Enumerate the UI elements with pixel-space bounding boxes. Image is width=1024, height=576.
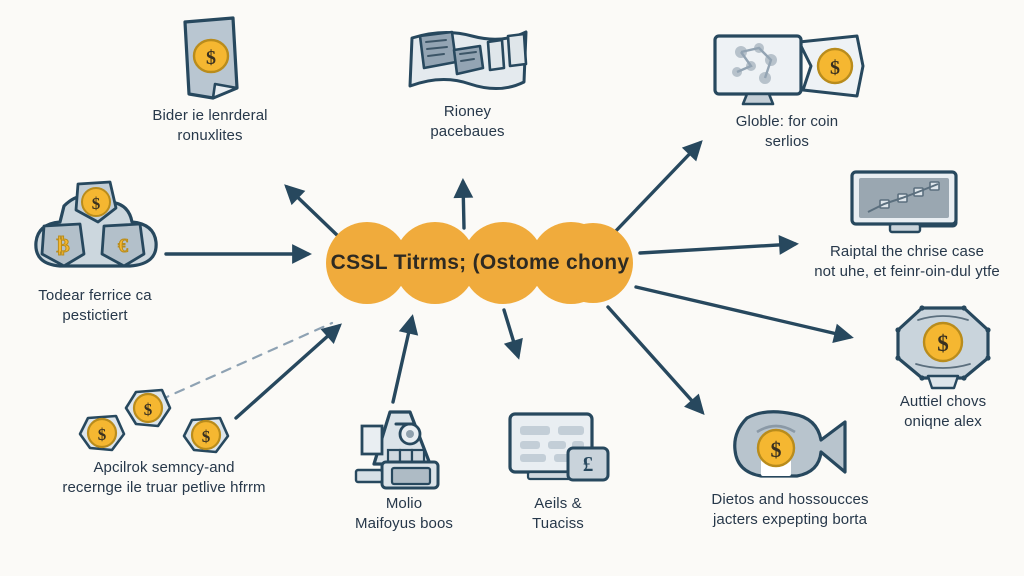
piggybank-coin-icon: $ [727,402,853,486]
arrow-hub-to-bottom-right [608,307,702,412]
central-node[interactable]: CSSL Titrms; (Ostome chony [325,222,635,304]
svg-text:$: $ [144,400,153,419]
svg-text:$: $ [98,425,107,444]
node-bottom-center-left[interactable]: Molio Maifoyus boos [325,406,483,535]
node-top-right-label: Globle: for coin serlios [736,112,838,153]
svg-text:$: $ [830,57,840,79]
node-bottom-left[interactable]: $ $ $ Apcilrok semncy-and recernge ile t… [34,386,294,499]
svg-text:€: € [118,235,128,257]
browser-card-icon: £ [504,408,612,490]
node-left-label: Todear ferrice ca pestictiert [38,286,151,327]
monitor-network-coin-icon: $ [707,26,867,108]
svg-text:£: £ [583,452,594,476]
node-bottom-left-label: Apcilrok semncy-and recernge ile truar p… [62,458,265,499]
svg-text:$: $ [771,437,782,462]
documents-banner-icon [404,22,532,98]
svg-text:$: $ [92,194,101,213]
node-top-right[interactable]: $ Globle: for coin serlios [672,26,902,153]
node-top-left[interactable]: $ Bider ie lenrderal ronuxlites [90,14,330,147]
node-bottom-right-label: Dietos and hossoucces jacters expepting … [711,490,868,531]
node-bottom-right[interactable]: $ Dietos and hossoucces jacters expeptin… [660,402,920,531]
octagon-seal-coin-icon: $ [888,302,998,388]
central-node-label: CSSL Titrms; (Ostome chony [331,251,630,275]
svg-text:₿: ₿ [56,235,69,257]
node-right[interactable]: Raiptal the chrise case not uhe, et fein… [790,168,1024,283]
node-bottom-center-left-label: Molio Maifoyus boos [355,494,453,535]
svg-text:$: $ [206,47,216,69]
node-bottom-center-right-label: Aeils & Tuaciss [532,494,584,535]
cloud-coins-icon: $ ₿ € [22,178,168,282]
node-top-center-label: Rioney pacebaues [430,102,504,143]
document-coin-icon: $ [167,14,253,102]
machine-icon [352,406,456,490]
svg-text:$: $ [202,427,211,446]
arrow-bottom-center-left-to-hub [393,318,412,402]
arrow-hub-to-bottom-center-right [504,310,518,356]
node-top-center[interactable]: Rioney pacebaues [360,22,575,143]
three-coins-icon: $ $ $ [74,386,254,454]
node-left[interactable]: $ ₿ € Todear ferrice ca pestictiert [0,178,190,327]
node-bottom-center-right[interactable]: £ Aeils & Tuaciss [478,408,638,535]
arrow-hub-to-right [640,244,795,253]
node-top-left-label: Bider ie lenrderal ronuxlites [152,106,267,147]
monitor-chart-icon [846,168,968,238]
node-right-label: Raiptal the chrise case not uhe, et fein… [814,242,1000,283]
arrow-hub-to-right-lower [636,287,850,337]
svg-text:$: $ [937,331,949,356]
